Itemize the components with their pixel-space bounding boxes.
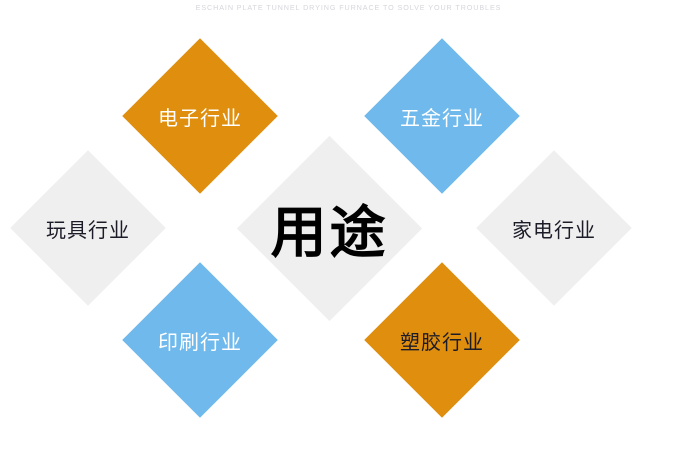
diamond-label-printing: 印刷行业 bbox=[145, 285, 255, 395]
diamond-label-appliance: 家电行业 bbox=[499, 173, 609, 283]
diamond-node-appliance[interactable]: 家电行业 bbox=[476, 150, 632, 306]
diamond-label-plastic: 塑胶行业 bbox=[387, 285, 497, 395]
diamond-node-electronics[interactable]: 电子行业 bbox=[122, 38, 278, 194]
diamond-node-toys[interactable]: 玩具行业 bbox=[10, 150, 166, 306]
diamond-node-hardware[interactable]: 五金行业 bbox=[364, 38, 520, 194]
header-band: ESCHAIN PLATE TUNNEL DRYING FURNACE TO S… bbox=[0, 0, 697, 20]
diamond-label-electronics: 电子行业 bbox=[145, 61, 255, 171]
diagram-canvas: ESCHAIN PLATE TUNNEL DRYING FURNACE TO S… bbox=[0, 0, 697, 414]
diamond-label-toys: 玩具行业 bbox=[33, 173, 143, 283]
diamond-node-printing[interactable]: 印刷行业 bbox=[122, 262, 278, 418]
header-tagline: ESCHAIN PLATE TUNNEL DRYING FURNACE TO S… bbox=[0, 3, 697, 12]
diamond-label-center: 用途 bbox=[264, 163, 395, 294]
diamond-label-hardware: 五金行业 bbox=[387, 61, 497, 171]
diamond-node-plastic[interactable]: 塑胶行业 bbox=[364, 262, 520, 418]
